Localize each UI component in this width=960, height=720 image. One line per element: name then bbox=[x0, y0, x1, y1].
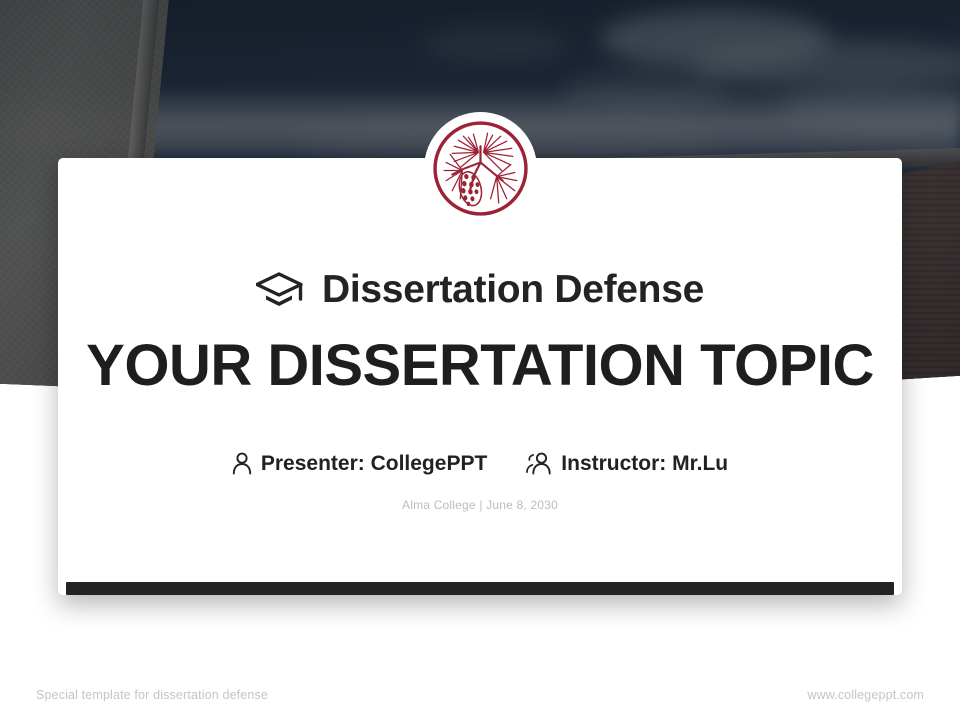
card-accent-bar bbox=[66, 582, 894, 595]
presenter-credit: Presenter: CollegePPT bbox=[232, 452, 487, 475]
page-footer: Special template for dissertation defens… bbox=[0, 684, 960, 706]
slide-meta: Alma College | June 8, 2030 bbox=[0, 498, 960, 512]
people-group-icon bbox=[525, 452, 552, 475]
pine-crest-icon bbox=[430, 118, 531, 219]
person-glyph bbox=[232, 452, 252, 475]
credits-row: Presenter: CollegePPT Instructor: Mr.Lu bbox=[0, 452, 960, 475]
eyebrow-text: Dissertation Defense bbox=[322, 270, 704, 309]
person-icon bbox=[232, 452, 252, 475]
people-group-glyph bbox=[525, 452, 552, 475]
college-crest-badge bbox=[424, 112, 537, 225]
page-title: YOUR DISSERTATION TOPIC bbox=[0, 336, 960, 397]
footer-right-url: www.collegeppt.com bbox=[807, 688, 924, 702]
title-slide: Dissertation Defense YOUR DISSERTATION T… bbox=[0, 0, 960, 720]
graduation-cap-glyph bbox=[256, 271, 304, 309]
presenter-label: Presenter: CollegePPT bbox=[261, 453, 487, 474]
footer-left-text: Special template for dissertation defens… bbox=[36, 688, 268, 702]
eyebrow-row: Dissertation Defense bbox=[0, 270, 960, 309]
graduation-cap-icon bbox=[256, 271, 304, 309]
instructor-credit: Instructor: Mr.Lu bbox=[525, 452, 728, 475]
instructor-label: Instructor: Mr.Lu bbox=[561, 453, 728, 474]
